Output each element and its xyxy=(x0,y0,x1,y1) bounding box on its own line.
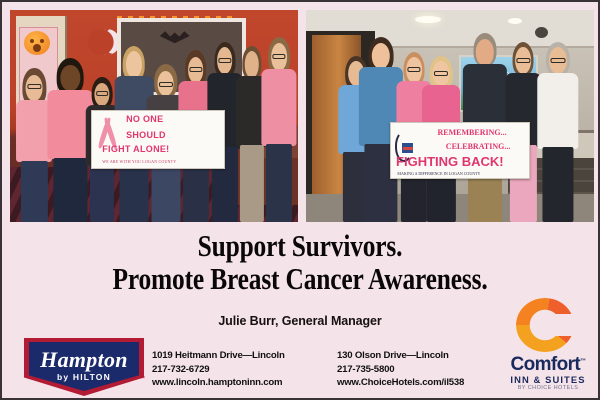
sign-line-3: FIGHTING BACK! xyxy=(396,154,504,169)
sign-line-1: REMEMBERING... xyxy=(438,128,507,137)
legs xyxy=(21,161,47,222)
legs xyxy=(90,164,114,222)
sign-line-2: CELEBRATING... xyxy=(446,142,511,151)
logo-badge xyxy=(401,142,414,154)
comfort-wordmark-text: Comfort xyxy=(510,354,580,375)
comfort-wordmark: Comfort™ xyxy=(499,354,597,376)
glasses xyxy=(158,82,172,87)
head xyxy=(126,51,142,78)
comfort-contact: 130 Olson Drive—Lincoln 217-735-5800 www… xyxy=(337,349,464,390)
glasses xyxy=(96,91,108,96)
hampton-contact: 1019 Heitmann Drive—Lincoln 217-732-6729… xyxy=(152,349,285,390)
hampton-wordmark: Hampton xyxy=(24,347,144,373)
sign-line-3: FIGHT ALONE! xyxy=(102,144,169,154)
comfort-subtitle-2: BY CHOICE HOTELS xyxy=(499,385,597,391)
hampton-logo[interactable]: Hampton by HILTON ™ xyxy=(24,338,144,396)
awareness-sign: NO ONE SHOULD FIGHT ALONE! WE ARE WITH Y… xyxy=(91,110,225,169)
advertisement-banner: NO ONE SHOULD FIGHT ALONE! WE ARE WITH Y… xyxy=(0,0,600,400)
trademark-symbol: ™ xyxy=(139,376,145,382)
torso xyxy=(262,69,297,145)
headline-line-2: Promote Breast Cancer Awareness. xyxy=(56,263,545,296)
sign-line-4: WE ARE WITH YOU LOGAN COUNTY xyxy=(102,159,176,164)
person xyxy=(536,40,579,222)
sign-line-1: NO ONE xyxy=(126,114,163,124)
glasses xyxy=(28,84,41,89)
comfort-subtitle: INN & SUITES xyxy=(499,374,597,385)
legs xyxy=(542,147,573,222)
security-camera-icon xyxy=(535,27,548,38)
comfort-c-mark-icon xyxy=(516,298,574,352)
c-notch xyxy=(549,314,576,336)
glasses xyxy=(517,58,530,63)
comfort-address: 130 Olson Drive—Lincoln xyxy=(337,349,464,363)
person xyxy=(261,35,298,222)
sign-line-2: SHOULD xyxy=(126,130,166,140)
trademark-symbol: ™ xyxy=(580,359,585,365)
hampton-address: 1019 Heitmann Drive—Lincoln xyxy=(152,349,285,363)
glasses xyxy=(189,67,202,72)
hampton-subtitle: by HILTON xyxy=(24,372,144,382)
headline-line-1: Support Survivors. xyxy=(56,230,545,263)
hampton-website[interactable]: www.lincoln.hamptoninn.com xyxy=(152,376,285,390)
comfort-website[interactable]: www.ChoiceHotels.com/il538 xyxy=(337,376,464,390)
left-photo: NO ONE SHOULD FIGHT ALONE! WE ARE WITH Y… xyxy=(10,10,298,222)
hampton-phone[interactable]: 217-732-6729 xyxy=(152,363,285,377)
relay-for-life-sign: REMEMBERING... CELEBRATING... FIGHTING B… xyxy=(390,122,530,179)
glasses xyxy=(218,58,231,63)
photo-strip: NO ONE SHOULD FIGHT ALONE! WE ARE WITH Y… xyxy=(10,10,594,222)
sign-line-4: MAKING A DIFFERENCE IN LOGAN COUNTY xyxy=(397,171,480,176)
headline: Support Survivors. Promote Breast Cancer… xyxy=(56,230,545,296)
head xyxy=(245,51,260,78)
glasses xyxy=(434,71,448,76)
head xyxy=(475,39,493,66)
right-photo: ILLINOIS xyxy=(306,10,594,222)
comfort-logo[interactable]: Comfort™ INN & SUITES BY CHOICE HOTELS xyxy=(499,298,597,394)
glasses xyxy=(273,54,286,59)
torso xyxy=(537,73,578,150)
glasses xyxy=(551,58,566,63)
glasses xyxy=(407,67,420,72)
legs xyxy=(54,158,87,222)
comfort-phone[interactable]: 217-735-5800 xyxy=(337,363,464,377)
legs xyxy=(266,144,292,222)
